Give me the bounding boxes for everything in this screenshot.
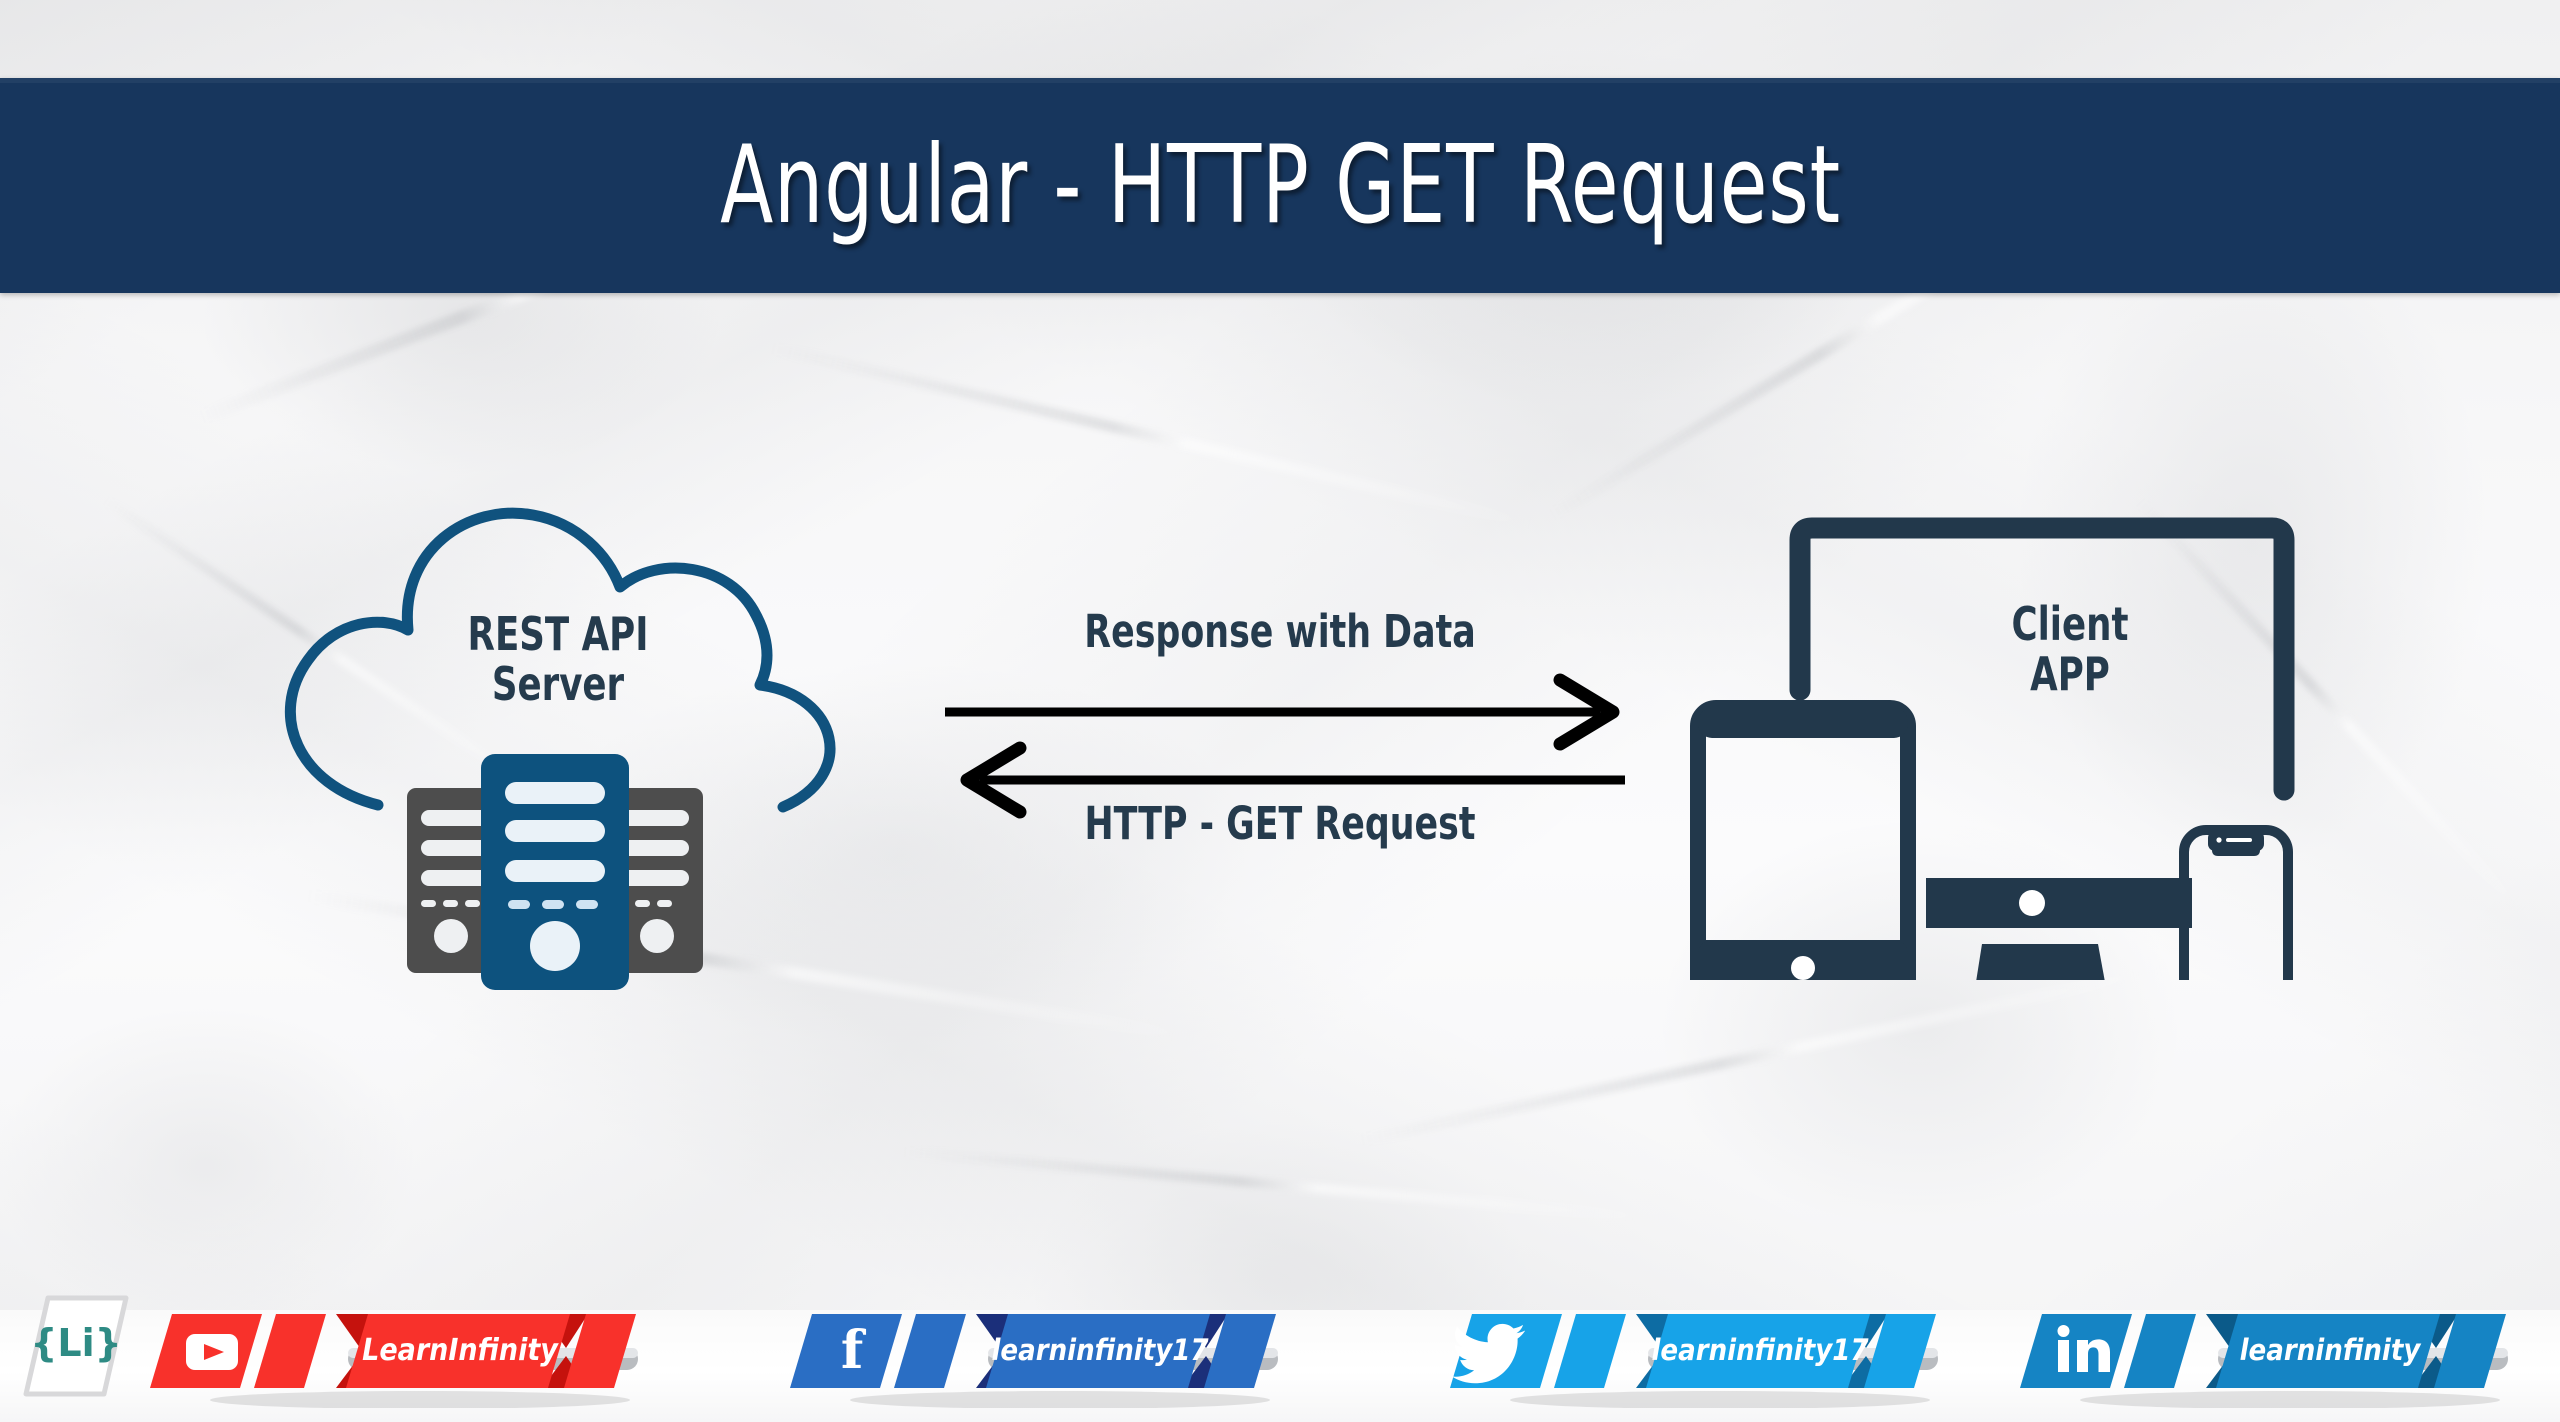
server-label-line1: REST API [429,610,687,660]
response-arrow-label: Response with Data [1078,608,1482,657]
svg-text:f: f [841,1320,867,1381]
smartphone-icon [2184,830,2288,980]
client-label-line1: Client [1950,600,2191,650]
social-handle-twitter: learninfinity17 [1651,1333,1869,1367]
client-node-label: Client APP [1950,600,2191,699]
brand-logo[interactable]: {Li} [18,1290,133,1406]
social-banner-youtube[interactable]: LearnInfinity [150,1296,680,1412]
social-banner-linkedin[interactable]: learninfinity [2020,1296,2550,1412]
client-label-line2: APP [1950,650,2191,700]
facebook-icon: f [841,1320,867,1381]
slide-canvas: Angular - HTTP GET Request REST API Serv… [0,0,2560,1422]
youtube-icon [186,1334,238,1370]
social-banner-facebook[interactable]: f learninfinity17 [790,1296,1320,1412]
social-handle-youtube: LearnInfinity [362,1333,559,1368]
server-rack-center [481,754,629,990]
server-node-label: REST API Server [429,610,687,709]
server-label-line2: Server [429,660,687,710]
social-handle-linkedin: learninfinity [2240,1333,2422,1367]
social-banner-twitter[interactable]: learninfinity17 [1450,1296,1980,1412]
band-highlight [0,78,2560,83]
request-arrow-label: HTTP - GET Request [1078,800,1482,849]
tablet-icon [1698,708,1908,980]
client-app-node [1660,500,2320,980]
slide-title-band: Angular - HTTP GET Request [0,78,2560,293]
brand-logo-text: {Li} [30,1321,121,1365]
server-rack-icon [405,750,705,1025]
footer-bar: {Li} [0,1282,2560,1422]
desktop-monitor-icon [1926,878,2192,980]
page-title: Angular - HTTP GET Request [720,132,1841,240]
social-handle-facebook: learninfinity17 [991,1333,1209,1367]
